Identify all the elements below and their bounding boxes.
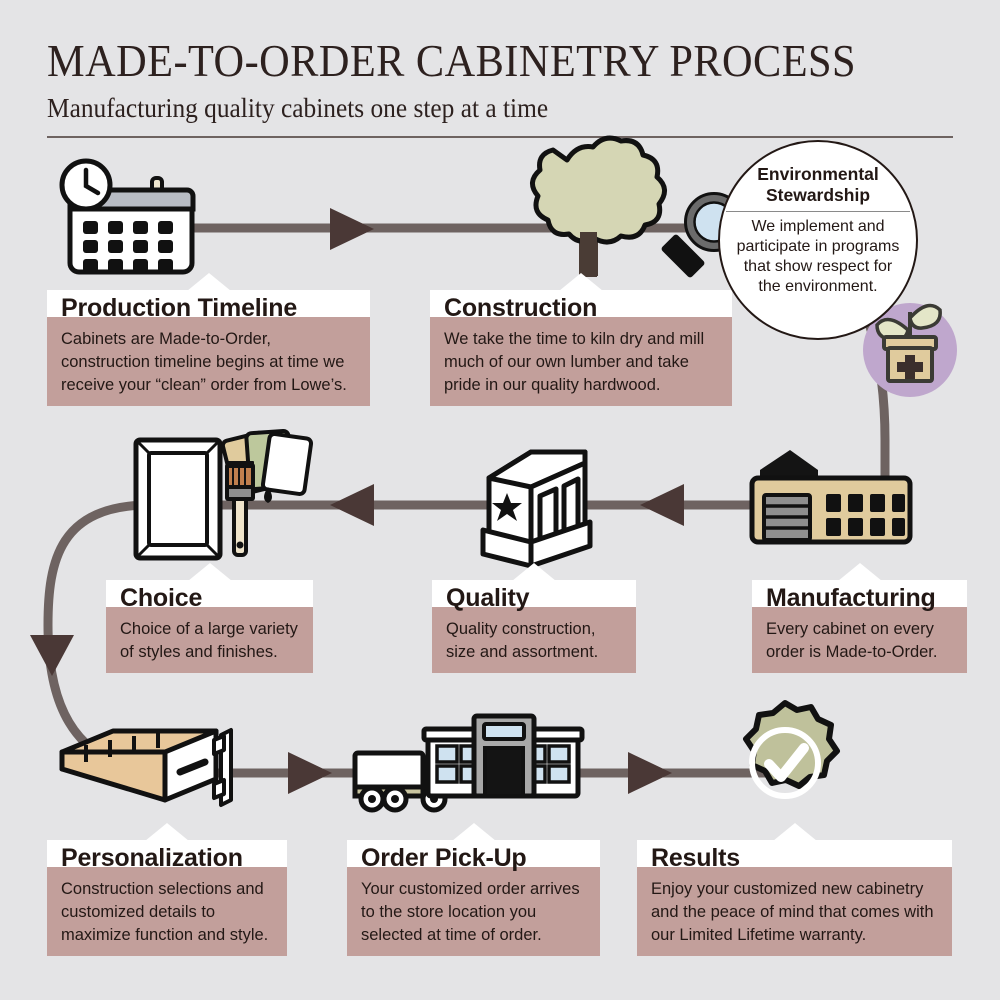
drawer-handle-icon <box>62 730 231 805</box>
step-card-quality: Quality Quality construction, size and a… <box>432 580 636 673</box>
card-notch <box>559 273 603 291</box>
calendar-clock-icon <box>62 161 193 272</box>
card-notch <box>512 563 556 581</box>
step-body: Cabinets are Made-to-Order, construction… <box>47 317 370 406</box>
step-card-personalization: Personalization Construction selections … <box>47 840 287 956</box>
card-notch <box>187 273 231 291</box>
card-notch <box>188 563 232 581</box>
cabinet-icon <box>483 452 590 566</box>
step-body: Choice of a large variety of styles and … <box>106 607 313 673</box>
card-notch <box>452 823 496 841</box>
env-callout-heading: Environmental Stewardship <box>720 142 916 211</box>
step-card-choice: Choice Choice of a large variety of styl… <box>106 580 313 673</box>
infographic-canvas: MADE-TO-ORDER CABINETRY PROCESS Manufact… <box>0 0 1000 1000</box>
environmental-stewardship-callout: Environmental Stewardship We implement a… <box>718 140 918 340</box>
step-body: Quality construction, size and assortmen… <box>432 607 636 673</box>
check-badge-icon <box>746 703 837 796</box>
step-card-manufacturing: Manufacturing Every cabinet on every ord… <box>752 580 967 673</box>
card-notch <box>773 823 817 841</box>
store-icon <box>424 716 582 796</box>
step-body: Construction selections and customized d… <box>47 867 287 956</box>
step-card-results: Results Enjoy your customized new cabine… <box>637 840 952 956</box>
step-card-construction: Construction We take the time to kiln dr… <box>430 290 732 406</box>
step-body: Your customized order arrives to the sto… <box>347 867 600 956</box>
door-swatches-brush-icon <box>136 431 312 558</box>
tree-icon <box>532 138 664 277</box>
step-body: We take the time to kiln dry and mill mu… <box>430 317 732 406</box>
env-callout-body: We implement and participate in programs… <box>720 212 916 297</box>
step-heading: Manufacturing <box>752 580 967 614</box>
step-card-order-pick-up: Order Pick-Up Your customized order arri… <box>347 840 600 956</box>
step-body: Enjoy your customized new cabinetry and … <box>637 867 952 956</box>
step-card-production-timeline: Production Timeline Cabinets are Made-to… <box>47 290 370 406</box>
card-notch <box>838 563 882 581</box>
step-body: Every cabinet on every order is Made-to-… <box>752 607 967 673</box>
factory-icon <box>752 450 910 542</box>
card-notch <box>145 823 189 841</box>
